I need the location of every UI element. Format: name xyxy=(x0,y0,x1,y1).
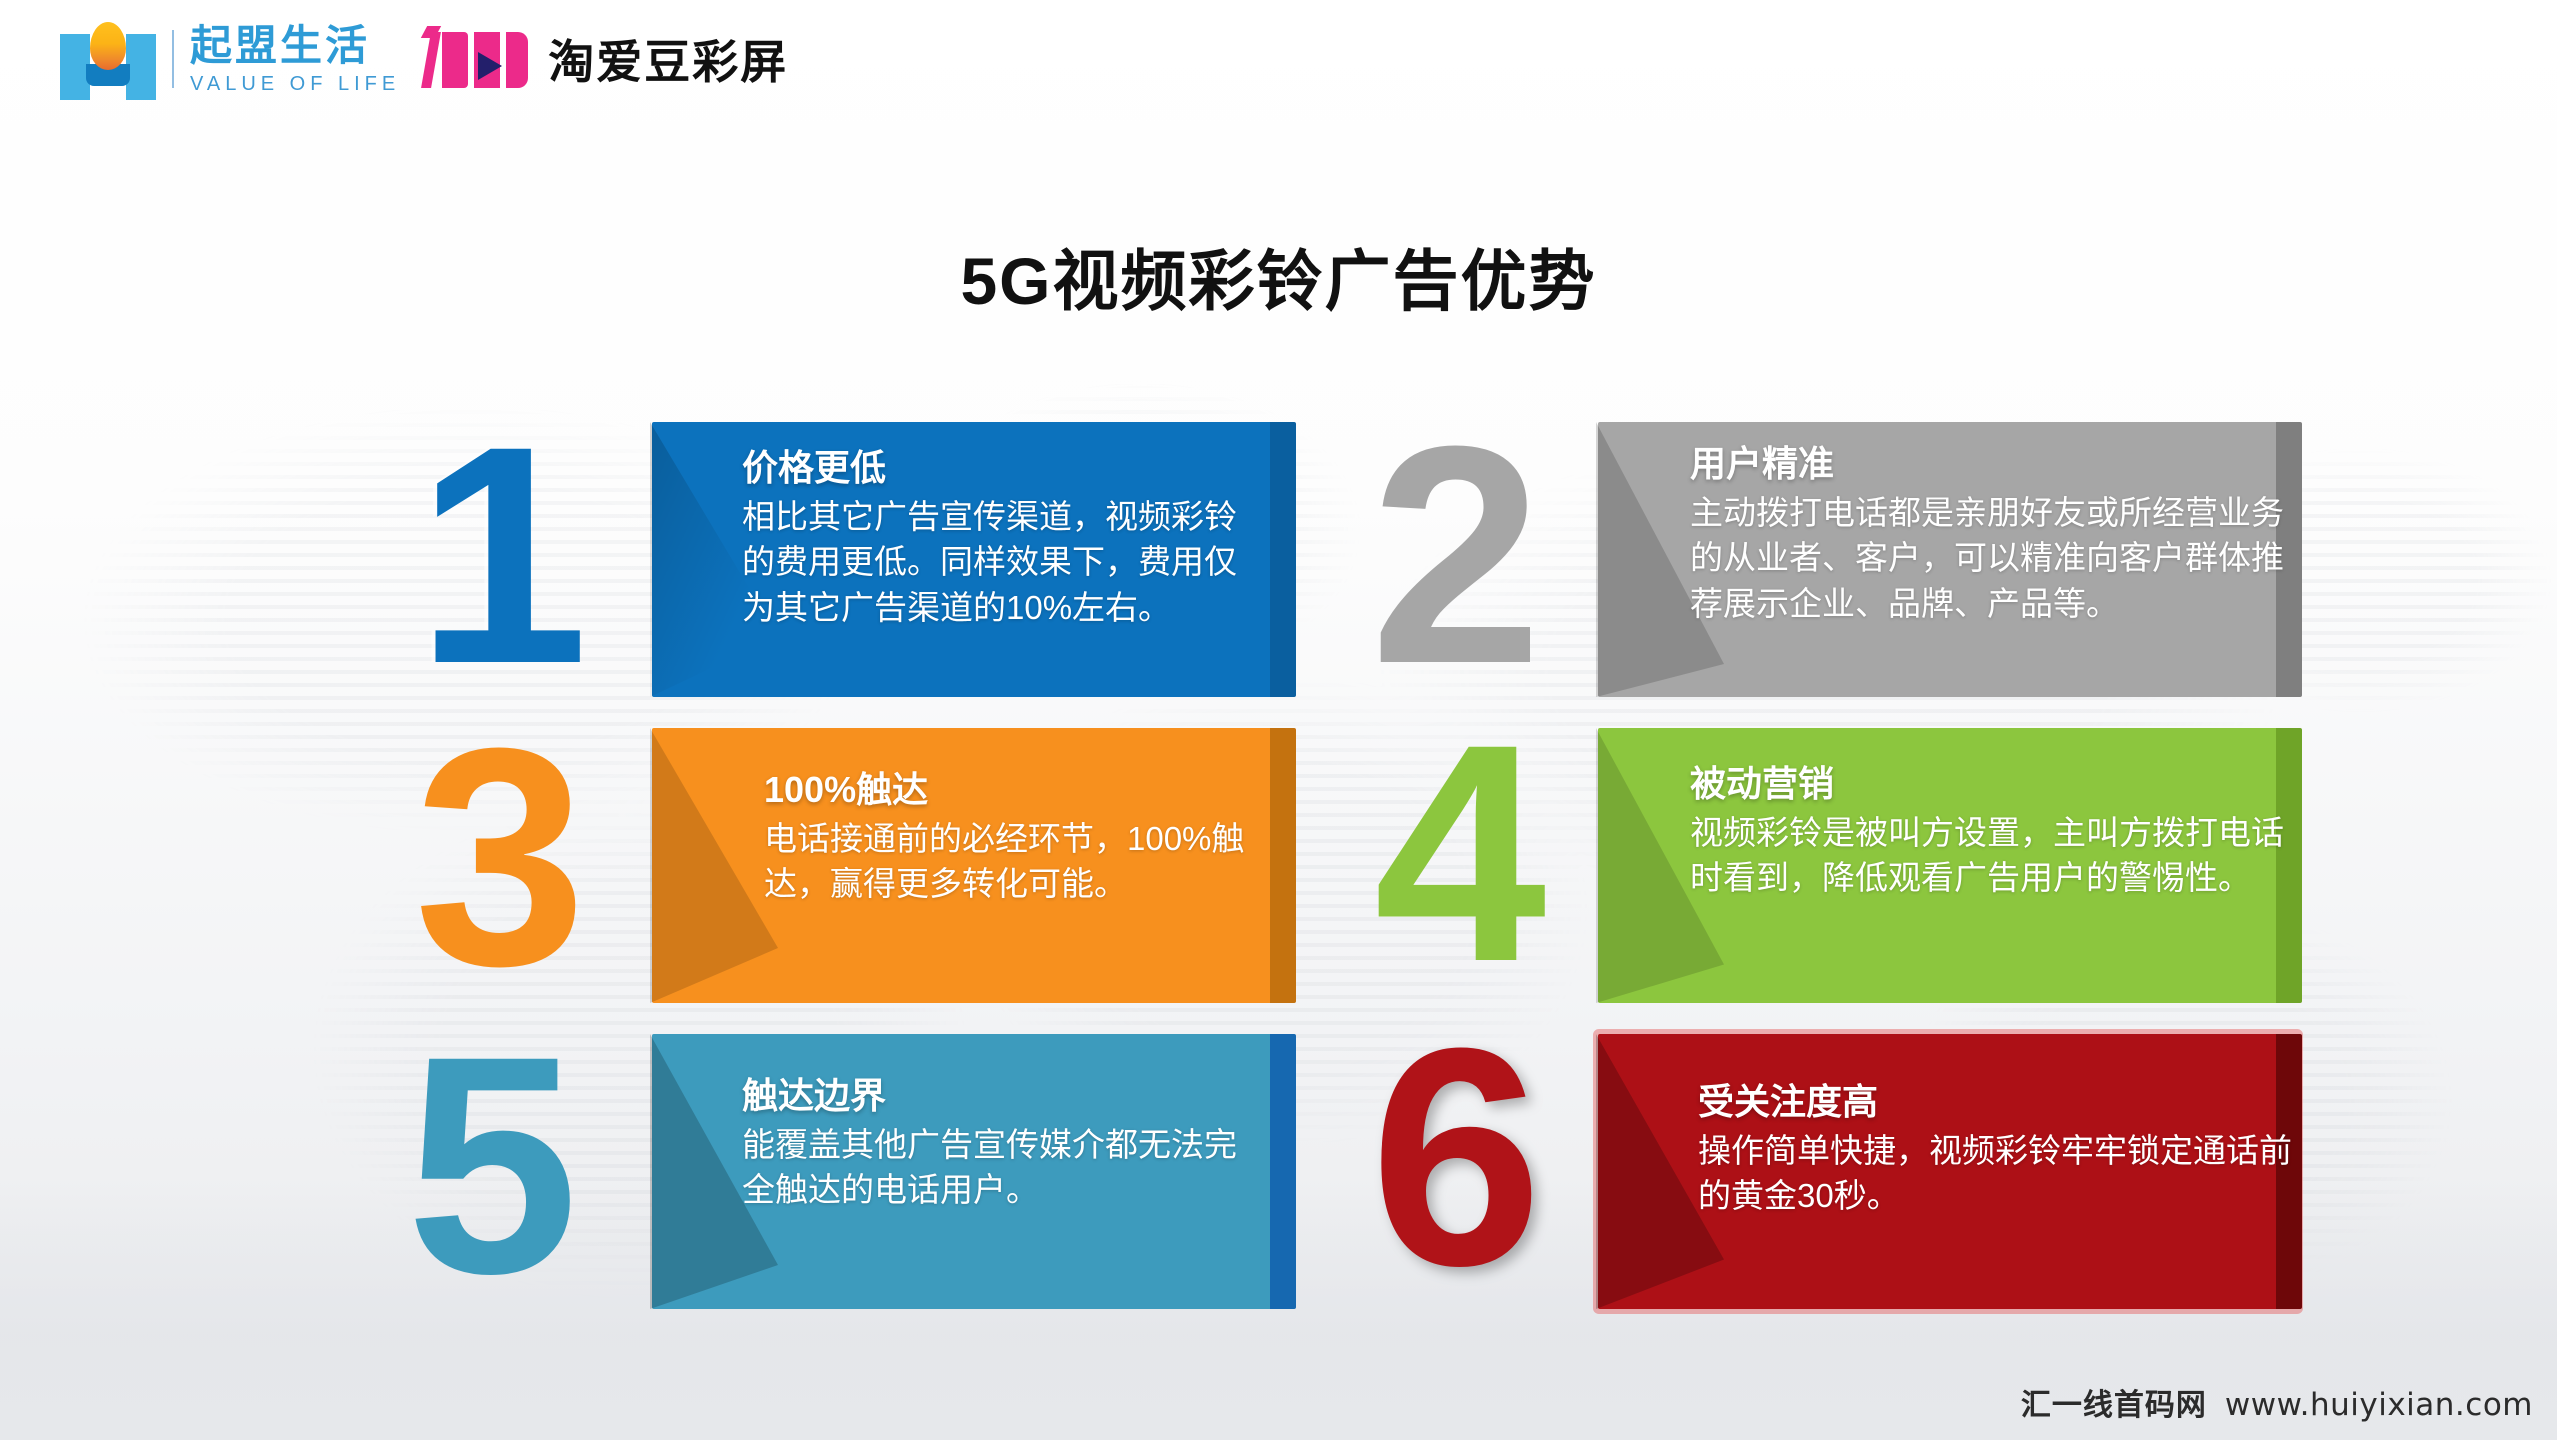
card-4-text: 被动营销 视频彩铃是被叫方设置，主叫方拨打电话时看到，降低观看广告用户的警惕性。 xyxy=(1690,764,2290,901)
card-4-body: 视频彩铃是被叫方设置，主叫方拨打电话时看到，降低观看广告用户的警惕性。 xyxy=(1690,810,2290,901)
card-6: 6 受关注度高 操作简单快捷，视频彩铃牢牢锁定通话前的黄金30秒。 xyxy=(1378,1034,2298,1309)
card-1: 1 价格更低 相比其它广告宣传渠道，视频彩铃的费用更低。同样效果下，费用仅为其它… xyxy=(412,422,1292,697)
watermark: 汇一线首码网 www.huiyixian.com xyxy=(2021,1380,2533,1424)
logo-taoaidou: 淘爱豆彩屏 xyxy=(422,26,788,92)
taoaidou-bars-icon xyxy=(422,26,532,92)
card-6-title: 受关注度高 xyxy=(1698,1082,2298,1122)
play-triangle-icon xyxy=(478,52,502,80)
watermark-site-name: 汇一线首码网 xyxy=(2021,1380,2207,1424)
brand-bar: 起盟生活 VALUE OF LIFE 淘爱豆彩屏 xyxy=(60,18,788,100)
card-5-text: 触达边界 能覆盖其他广告宣传媒介都无法完全触达的电话用户。 xyxy=(742,1076,1262,1213)
card-3-text: 100%触达 电话接通前的必经环节，100%触达，赢得更多转化可能。 xyxy=(764,770,1264,907)
card-1-text: 价格更低 相比其它广告宣传渠道，视频彩铃的费用更低。同样效果下，费用仅为其它广告… xyxy=(742,448,1262,630)
card-3-edge xyxy=(1270,728,1296,1003)
qimeng-house-icon xyxy=(60,18,156,100)
card-2-number: 2 xyxy=(1370,400,1532,710)
advantage-card-grid: 1 价格更低 相比其它广告宣传渠道，视频彩铃的费用更低。同样效果下，费用仅为其它… xyxy=(0,422,2557,1322)
qimeng-wordmark: 起盟生活 VALUE OF LIFE xyxy=(190,25,400,94)
card-1-title: 价格更低 xyxy=(742,448,1262,488)
card-2-text: 用户精准 主动拨打电话都是亲朋好友或所经营业务的从业者、客户，可以精准向客户群体… xyxy=(1690,444,2290,626)
card-5-edge xyxy=(1270,1034,1296,1309)
card-4-title: 被动营销 xyxy=(1690,764,2290,804)
card-5-body: 能覆盖其他广告宣传媒介都无法完全触达的电话用户。 xyxy=(742,1122,1262,1213)
card-2-title: 用户精准 xyxy=(1690,444,2290,484)
taoaidou-cn-name: 淘爱豆彩屏 xyxy=(548,26,788,92)
card-1-body: 相比其它广告宣传渠道，视频彩铃的费用更低。同样效果下，费用仅为其它广告渠道的10… xyxy=(742,494,1262,631)
card-1-number: 1 xyxy=(416,400,578,710)
card-2: 2 用户精准 主动拨打电话都是亲朋好友或所经营业务的从业者、客户，可以精准向客户… xyxy=(1378,422,2298,697)
card-6-body: 操作简单快捷，视频彩铃牢牢锁定通话前的黄金30秒。 xyxy=(1698,1128,2298,1219)
card-3: 3 100%触达 电话接通前的必经环节，100%触达，赢得更多转化可能。 xyxy=(412,728,1292,1003)
card-2-body: 主动拨打电话都是亲朋好友或所经营业务的从业者、客户，可以精准向客户群体推荐展示企… xyxy=(1690,490,2290,627)
card-3-title: 100%触达 xyxy=(764,770,1264,810)
card-6-number: 6 xyxy=(1370,1002,1532,1312)
logo-qimeng-life: 起盟生活 VALUE OF LIFE xyxy=(60,18,400,100)
card-6-text: 受关注度高 操作简单快捷，视频彩铃牢牢锁定通话前的黄金30秒。 xyxy=(1698,1082,2298,1219)
card-3-body: 电话接通前的必经环节，100%触达，赢得更多转化可能。 xyxy=(764,816,1264,907)
card-3-number: 3 xyxy=(414,702,576,1012)
qimeng-en-tagline: VALUE OF LIFE xyxy=(190,74,400,94)
logo-divider xyxy=(172,30,174,88)
watermark-url: www.huiyixian.com xyxy=(2225,1387,2533,1423)
card-5-number: 5 xyxy=(406,1010,568,1320)
page-title: 5G视频彩铃广告优势 xyxy=(0,228,2557,324)
card-1-edge xyxy=(1270,422,1296,697)
card-5-title: 触达边界 xyxy=(742,1076,1262,1116)
card-4: 4 被动营销 视频彩铃是被叫方设置，主叫方拨打电话时看到，降低观看广告用户的警惕… xyxy=(1378,728,2298,1003)
card-4-number: 4 xyxy=(1374,698,1536,1008)
qimeng-cn-name: 起盟生活 xyxy=(190,25,400,67)
card-5: 5 触达边界 能覆盖其他广告宣传媒介都无法完全触达的电话用户。 xyxy=(412,1034,1292,1309)
